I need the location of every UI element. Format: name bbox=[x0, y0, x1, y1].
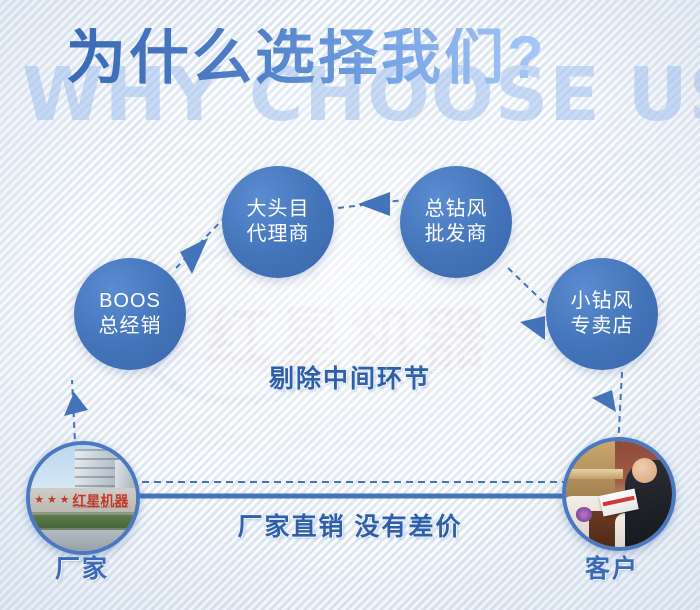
page-title: 为什么选择我们? bbox=[66, 28, 547, 88]
node-boos-line1: BOOS bbox=[99, 289, 161, 314]
factory-star-icon: ★ bbox=[47, 493, 57, 506]
node-whole-line2: 批发商 bbox=[425, 222, 488, 247]
bottom-caption: 厂家直销 没有差价 bbox=[0, 507, 700, 543]
node-agent-line2: 代理商 bbox=[247, 222, 310, 247]
node-boos-line2: 总经销 bbox=[99, 314, 162, 339]
factory-star-icon: ★ bbox=[34, 493, 44, 506]
node-whole-line1: 总钻风 bbox=[425, 197, 488, 222]
factory-star-icon: ★ bbox=[60, 493, 70, 506]
heading-block: WHY CHOOSE US 为什么选择我们? bbox=[0, 0, 700, 150]
node-boos[interactable]: BOOS 总经销 bbox=[74, 258, 186, 370]
node-store-line1: 小钻风 bbox=[571, 289, 634, 314]
client-wall-frame bbox=[568, 469, 623, 480]
node-store[interactable]: 小钻风 专卖店 bbox=[546, 258, 658, 370]
node-wholesaler[interactable]: 总钻风 批发商 bbox=[400, 166, 512, 278]
middle-caption: 剔除中间环节 bbox=[0, 359, 700, 395]
client-label: 客户 bbox=[566, 549, 658, 585]
factory-label: 厂家 bbox=[36, 549, 128, 585]
poster-canvas: 红星机器 HONGXING MACHINERY WHY CHOOSE US 为什… bbox=[0, 0, 700, 610]
node-store-line2: 专卖店 bbox=[571, 314, 634, 339]
node-agent[interactable]: 大头目 代理商 bbox=[222, 166, 334, 278]
node-agent-line1: 大头目 bbox=[247, 197, 310, 222]
